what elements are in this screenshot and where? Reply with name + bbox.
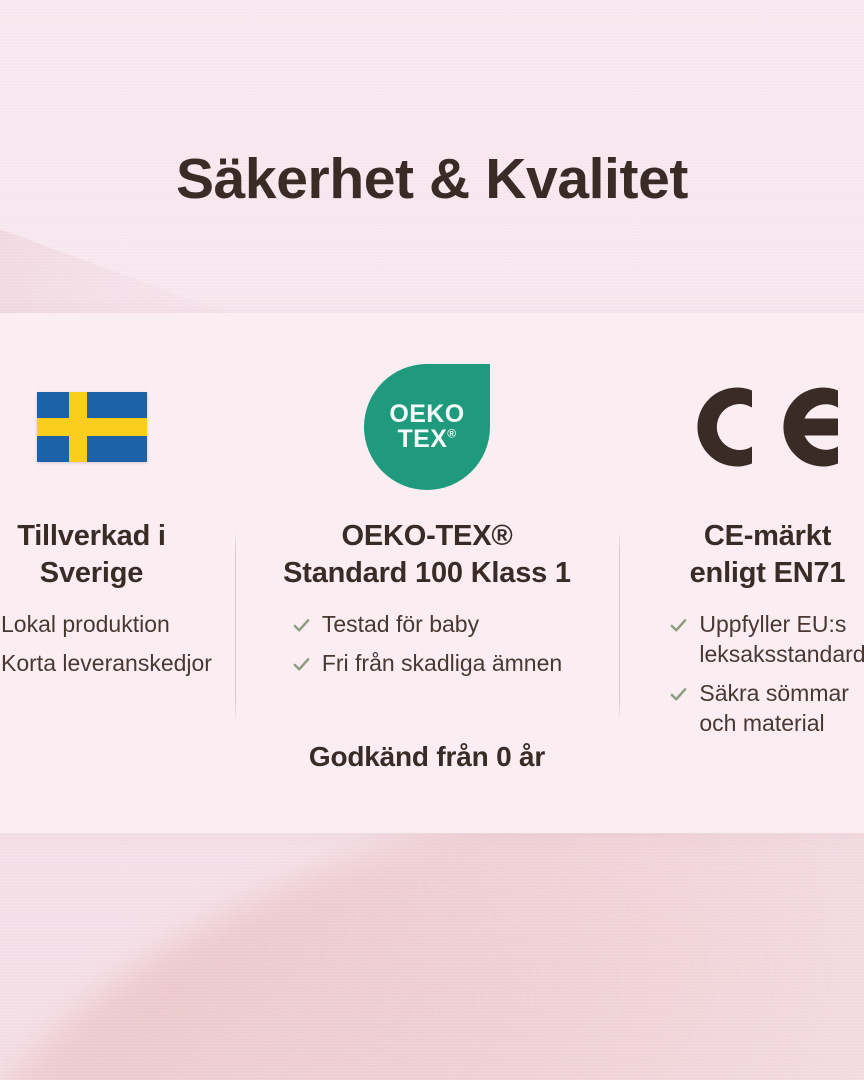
badge-slot-sweden <box>0 361 215 493</box>
cert-point: Lokal produktion <box>0 610 212 640</box>
cert-point: Korta leveranskedjor <box>0 649 212 679</box>
cert-column-made-in-sweden: Tillverkad i Sverige Lokal produktion Ko… <box>0 313 235 688</box>
column-divider <box>619 530 620 722</box>
cert-point-label: Fri från skadliga ämnen <box>322 649 562 679</box>
cert-point: Testad för baby <box>292 610 562 640</box>
badge-slot-ce <box>639 361 864 493</box>
ce-mark-icon <box>690 384 846 470</box>
check-icon <box>292 616 311 635</box>
cert-heading-ce-marked: CE-märkt enligt EN71 <box>639 518 864 591</box>
flag-cross-horizontal <box>37 418 147 436</box>
check-icon <box>669 616 688 635</box>
swedish-flag-icon <box>37 392 147 462</box>
column-divider <box>235 530 236 722</box>
cert-point-label: Säkra sömmar och material <box>699 679 849 739</box>
cert-heading-made-in-sweden: Tillverkad i Sverige <box>0 518 215 591</box>
cert-point: Fri från skadliga ämnen <box>292 649 562 679</box>
oeko-badge-line-2: TEX® <box>397 427 456 453</box>
badge-slot-oeko-tex: OEKO TEX® <box>255 361 599 493</box>
cert-column-oeko-tex: OEKO TEX® OEKO-TEX® Standard 100 Klass 1… <box>235 313 619 688</box>
cert-footnote: Godkänd från 0 år <box>235 741 619 773</box>
oeko-badge-registered-mark: ® <box>447 427 456 441</box>
oeko-badge-tex-text: TEX <box>397 425 447 453</box>
check-icon <box>292 655 311 674</box>
cert-point: Säkra sömmar och material <box>669 679 864 739</box>
cert-column-ce-marked: CE-märkt enligt EN71 Uppfyller EU:s leks… <box>619 313 864 748</box>
cert-point-label: Uppfyller EU:s leksaksstandard <box>699 610 864 670</box>
page-title: Säkerhet & Kvalitet <box>0 148 864 212</box>
oeko-tex-droplet-icon: OEKO TEX® <box>364 364 490 490</box>
oeko-badge-line-1: OEKO <box>389 402 464 428</box>
cert-points-ce-marked: Uppfyller EU:s leksaksstandard Säkra söm… <box>669 610 864 748</box>
certification-card: Tillverkad i Sverige Lokal produktion Ko… <box>0 313 864 833</box>
certification-columns: Tillverkad i Sverige Lokal produktion Ko… <box>0 313 864 748</box>
cert-points-made-in-sweden: Lokal produktion Korta leveranskedjor <box>0 610 212 688</box>
cert-point-label: Lokal produktion <box>1 610 170 640</box>
cert-heading-oeko-tex: OEKO-TEX® Standard 100 Klass 1 <box>255 518 599 591</box>
cert-point-label: Korta leveranskedjor <box>1 649 212 679</box>
cert-points-oeko-tex: Testad för baby Fri från skadliga ämnen <box>292 610 562 688</box>
cert-point: Uppfyller EU:s leksaksstandard <box>669 610 864 670</box>
check-icon <box>669 685 688 704</box>
cert-point-label: Testad för baby <box>322 610 479 640</box>
